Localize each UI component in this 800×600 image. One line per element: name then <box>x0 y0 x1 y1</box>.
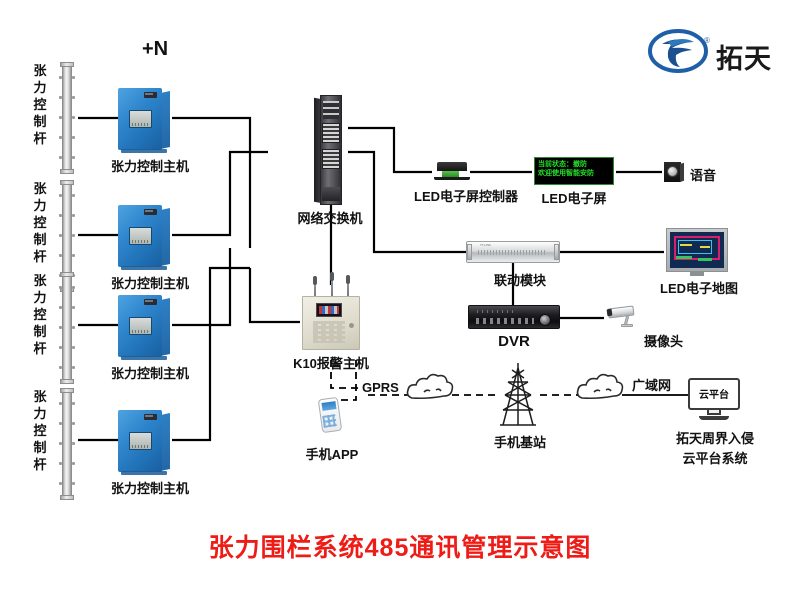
tension-host-label: 张力控制主机 <box>111 273 177 292</box>
tension-control-host-icon <box>118 205 170 267</box>
pole-label: 张 力 控 制 杆 <box>30 388 50 473</box>
brand-name: 拓天 <box>716 37 772 76</box>
diagram-title: 张力围栏系统485通讯管理示意图 <box>0 528 800 564</box>
dvr-label: DVR <box>484 333 544 350</box>
network-switch-label: 网络交换机 <box>294 208 366 227</box>
brand-logo: ® 拓天 <box>648 28 710 79</box>
dvr-icon <box>468 305 560 329</box>
led-map-label: LED电子地图 <box>660 278 736 297</box>
gprs-label: GPRS <box>362 380 399 395</box>
tension-host-label: 张力控制主机 <box>111 478 177 497</box>
tension-control-host-icon <box>118 410 170 472</box>
cloud-platform-label-line1: 拓天周界入侵 <box>654 428 776 447</box>
diagram-canvas: ® 拓天 +N 张 力 控 制 杆 张 力 控 制 杆 张 力 控 制 杆 张 … <box>0 0 800 600</box>
led-controller-label: LED电子屏控制器 <box>414 186 492 205</box>
led-screen-line1: 当前状态：撤防 <box>538 160 610 169</box>
linkage-module-icon: TT-LINK <box>466 241 560 263</box>
tension-pole-icon <box>60 62 74 174</box>
smartphone-icon <box>320 398 340 432</box>
registered-mark: ® <box>704 36 710 45</box>
cloud-icon <box>578 375 623 399</box>
led-screen-label: LED电子屏 <box>534 188 614 207</box>
pole-label: 张 力 控 制 杆 <box>30 62 50 147</box>
camera-label: 摄像头 <box>644 331 683 350</box>
base-station-label: 手机基站 <box>484 432 556 451</box>
cell-tower-icon <box>500 363 536 425</box>
pole-label: 张 力 控 制 杆 <box>30 272 50 357</box>
cloud-platform-screen-label: 云平台 <box>688 386 740 401</box>
led-screen-icon: 当前状态：撤防 欢迎使用智能安防 <box>534 157 614 185</box>
led-screen-line2: 欢迎使用智能安防 <box>538 169 610 178</box>
voice-label: 语音 <box>690 165 716 184</box>
cloud-icon <box>408 375 453 399</box>
led-controller-icon <box>434 162 470 180</box>
camera-icon <box>606 305 640 327</box>
tension-host-label: 张力控制主机 <box>111 156 177 175</box>
cloud-platform-label-line2: 云平台系统 <box>654 448 776 467</box>
tension-control-host-icon <box>118 295 170 357</box>
tuotian-logo-icon <box>648 28 710 74</box>
pole-label: 张 力 控 制 杆 <box>30 180 50 265</box>
led-map-icon <box>666 228 728 276</box>
alarm-host-label: K10报警主机 <box>288 353 374 372</box>
tension-control-host-icon <box>118 88 170 150</box>
tension-pole-icon <box>60 388 74 500</box>
network-switch-icon <box>314 95 348 205</box>
plus-n-label: +N <box>142 38 168 61</box>
speaker-icon <box>664 162 684 182</box>
monitor-icon: 云平台 <box>688 378 740 420</box>
tension-host-label: 张力控制主机 <box>111 363 177 382</box>
tension-pole-icon <box>60 272 74 384</box>
linkage-module-label: 联动模块 <box>482 270 558 289</box>
alarm-host-icon <box>302 272 360 350</box>
mobile-app-label: 手机APP <box>300 444 364 463</box>
wan-label: 广域网 <box>632 375 671 394</box>
